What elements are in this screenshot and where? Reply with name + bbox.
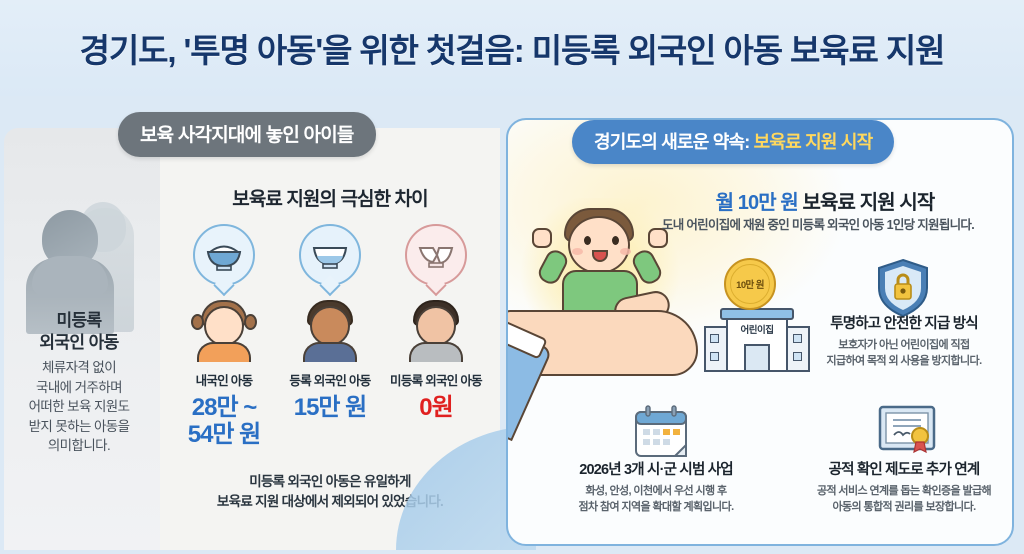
sidebar-title-line2: 외국인 아동 [39, 333, 118, 352]
sidebar-title-line1: 미등록 [56, 311, 101, 330]
amount-line2: 54만 원 [188, 421, 261, 448]
half-empty-bowl-icon [299, 224, 361, 286]
comparison-column-korean-child: 내국인 아동 28만 ~ 54만 원 [172, 224, 276, 449]
column-label: 등록 외국인 아동 [278, 370, 382, 389]
feature-desc-line2: 아동의 통합적 권리를 보장합니다. [832, 501, 975, 513]
registered-foreign-child-avatar [297, 298, 363, 360]
pill-label-yellow: 보육료 지원 시작 [754, 132, 873, 152]
feature-title: 투명하고 안전한 지급 방식 [796, 312, 1012, 333]
feature-public-verification: 공적 확인 제도로 추가 연계 공적 서비스 연계를 돕는 확인증을 발급해 아… [784, 458, 1024, 516]
amount-line1: 28만 ~ [192, 394, 256, 421]
right-subtitle: 도내 어린이집에 재원 중인 미등록 외국인 아동 1인당 지원됩니다. [620, 214, 1016, 233]
feature-description: 화성, 안성, 이천에서 우선 시행 후 점차 참여 지역을 확대할 계획입니다… [528, 484, 784, 516]
column-label: 내국인 아동 [172, 370, 276, 389]
amount-line1: 15만 원 [294, 394, 367, 421]
bowl-glyph [416, 240, 456, 270]
feature-description: 공적 서비스 연계를 돕는 확인증을 발급해 아동의 통합적 권리를 보장합니다… [784, 484, 1024, 516]
feature-pilot-program: 2026년 3개 시·군 시범 사업 화성, 안성, 이천에서 우선 시행 후 … [528, 458, 784, 516]
left-panel-pill-label: 보육 사각지대에 놓인 아이들 [118, 112, 376, 157]
feature-desc-line1: 보호자가 아닌 어린이집에 직접 [838, 339, 969, 351]
left-subtitle: 보육료 지원의 극심한 차이 [160, 184, 500, 211]
pill-label-white: 경기도의 새로운 약속: [594, 132, 754, 152]
sidebar-description: 체류자격 없이 국내에 거주하며 어떠한 보육 지원도 받지 못하는 아동을 의… [2, 358, 156, 456]
coin-icon: 10만 원 [724, 258, 776, 310]
broken-bowl-icon [405, 224, 467, 286]
bowl-glyph [204, 238, 244, 272]
comparison-column-registered-foreign-child: 등록 외국인 아동 15만 원 [278, 224, 382, 422]
child-eye-left [584, 236, 591, 245]
feature-transparent-payment: 투명하고 안전한 지급 방식 보호자가 아닌 어린이집에 직접 지급하여 목적 … [796, 312, 1012, 370]
daycare-building-icon: 어린이집 [704, 300, 810, 376]
comparison-columns: 내국인 아동 28만 ~ 54만 원 등록 외국인 아동 [172, 224, 488, 454]
column-amount: 28만 ~ 54만 원 [172, 395, 276, 449]
feature-desc-line2: 점차 참여 지역을 확대할 계획입니다. [578, 501, 733, 513]
bowl-glyph [310, 240, 350, 270]
shield-lock-icon [876, 258, 930, 318]
page-title: 경기도, '투명 아동'을 위한 첫걸음: 미등록 외국인 아동 보육료 지원 [80, 24, 945, 72]
column-amount: 0원 [384, 395, 488, 422]
feature-desc-line2: 지급하여 목적 외 사용을 방지합니다. [826, 355, 981, 367]
feature-title: 2026년 3개 시·군 시범 사업 [528, 458, 784, 479]
column-label: 미등록 외국인 아동 [384, 370, 488, 389]
feature-desc-line1: 공적 서비스 연계를 돕는 확인증을 발급해 [817, 485, 991, 497]
full-rice-bowl-icon [193, 224, 255, 286]
undocumented-foreign-child-avatar [403, 298, 469, 360]
feature-description: 보호자가 아닌 어린이집에 직접 지급하여 목적 외 사용을 방지합니다. [796, 338, 1012, 370]
comparison-column-undocumented-foreign-child: 미등록 외국인 아동 0원 [384, 224, 488, 422]
feature-desc-line1: 화성, 안성, 이천에서 우선 시행 후 [586, 485, 727, 497]
building-label: 어린이집 [726, 322, 788, 336]
right-panel-pill-label: 경기도의 새로운 약속: 보육료 지원 시작 [572, 120, 894, 164]
headline-rest: 보육료 지원 시작 [798, 192, 934, 214]
child-eye-right [612, 236, 619, 245]
column-amount: 15만 원 [278, 395, 382, 422]
certificate-icon [876, 404, 938, 454]
calendar-icon [632, 404, 690, 458]
feature-title: 공적 확인 제도로 추가 연계 [784, 458, 1024, 479]
child-cheek-left [572, 248, 583, 255]
title-bar: 경기도, '투명 아동'을 위한 첫걸음: 미등록 외국인 아동 보육료 지원 [0, 0, 1024, 96]
note-line1: 미등록 외국인 아동은 유일하게 [249, 474, 411, 489]
child-hand-left [532, 228, 552, 248]
amount-line1: 0원 [419, 394, 452, 421]
left-panel-problem: 미등록 외국인 아동 체류자격 없이 국내에 거주하며 어떠한 보육 지원도 받… [0, 96, 500, 554]
sidebar-title: 미등록 외국인 아동 [4, 310, 154, 354]
korean-child-avatar [191, 298, 257, 360]
coin-label: 10만 원 [730, 264, 770, 304]
right-headline: 월 10만 원 보육료 지원 시작 [636, 186, 1014, 215]
headline-highlight: 월 10만 원 [716, 192, 798, 214]
child-cheek-right [620, 248, 631, 255]
